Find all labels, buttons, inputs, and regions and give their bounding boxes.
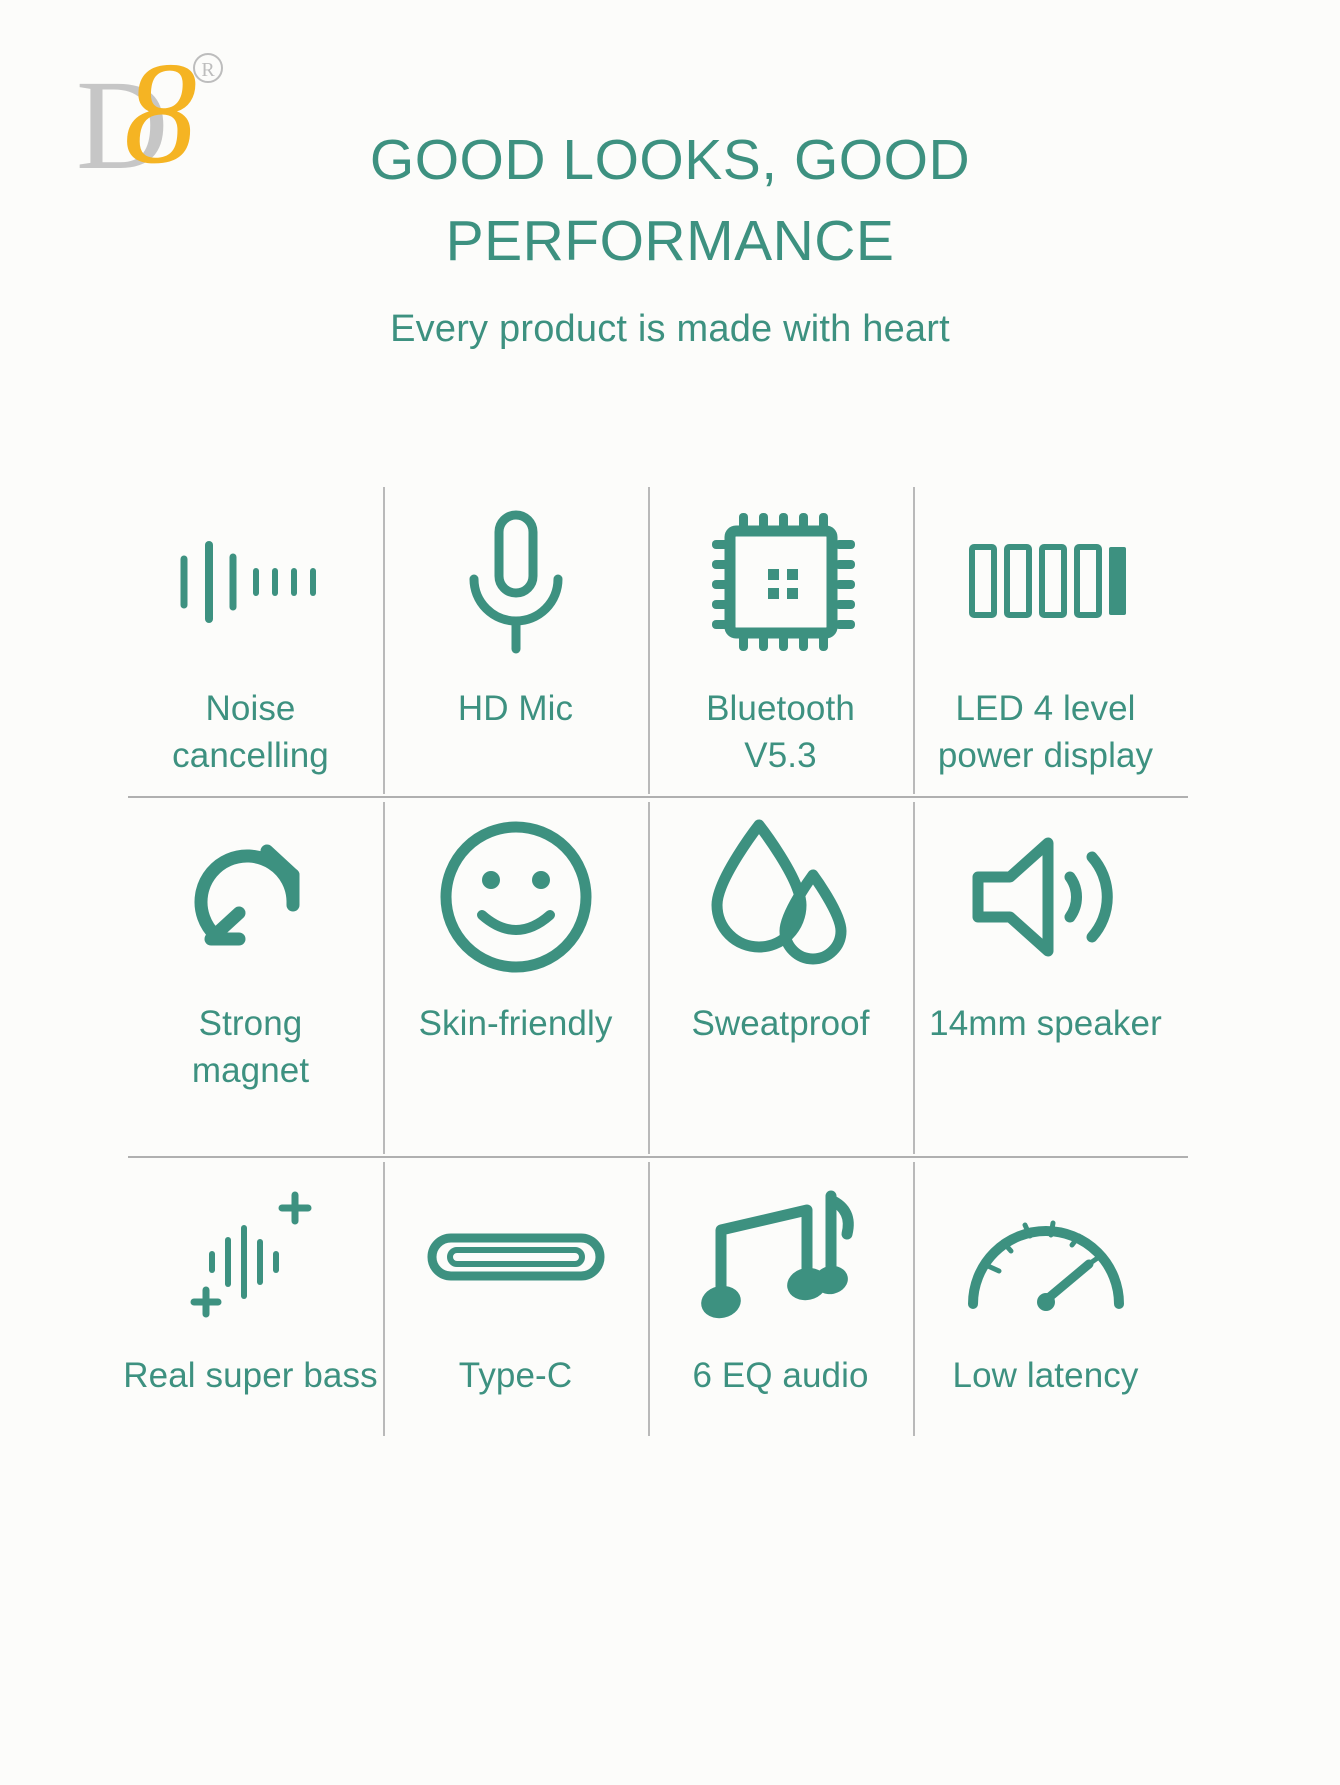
feature-label: Real super bass [119, 1352, 381, 1399]
feature-cell-bluetooth: Bluetooth V5.3 [648, 483, 913, 798]
feature-cell-hd-mic: HD Mic [383, 483, 648, 798]
feature-label: LED 4 level power display [934, 685, 1157, 780]
feature-label: Noise cancelling [168, 685, 333, 780]
feature-cell-led-power-display: LED 4 level power display [913, 483, 1178, 798]
feature-grid: Noise cancelling HD Mic [118, 483, 1178, 1440]
sound-wave-icon [176, 497, 326, 667]
feature-label: Bluetooth V5.3 [702, 685, 859, 780]
water-drops-icon [701, 812, 861, 982]
feature-label: 6 EQ audio [688, 1352, 872, 1399]
feature-label: 14mm speaker [925, 1000, 1166, 1047]
bass-boost-icon [186, 1172, 316, 1342]
feature-cell-low-latency: Low latency [913, 1158, 1178, 1440]
svg-text:R: R [201, 59, 215, 81]
feature-cell-sweatproof: Sweatproof [648, 798, 913, 1158]
usb-type-c-icon [426, 1172, 606, 1342]
chip-icon [706, 497, 856, 667]
magnet-icon [181, 812, 321, 982]
page-title: GOOD LOOKS, GOOD PERFORMANCE [250, 120, 1090, 282]
feature-label: HD Mic [454, 685, 577, 732]
feature-label: Strong magnet [188, 1000, 313, 1095]
feature-label: Low latency [949, 1352, 1143, 1399]
feature-label: Skin-friendly [415, 1000, 617, 1047]
feature-cell-skin-friendly: Skin-friendly [383, 798, 648, 1158]
feature-label: Sweatproof [687, 1000, 873, 1047]
feature-cell-eq-audio: 6 EQ audio [648, 1158, 913, 1440]
battery-bars-icon [966, 497, 1126, 667]
speaker-volume-icon [966, 812, 1126, 982]
feature-cell-speaker: 14mm speaker [913, 798, 1178, 1158]
registered-trademark-icon: R [194, 54, 222, 82]
feature-label: Type-C [455, 1352, 576, 1399]
header-block: GOOD LOOKS, GOOD PERFORMANCE Every produ… [250, 120, 1090, 351]
feature-cell-strong-magnet: Strong magnet [118, 798, 383, 1158]
product-feature-infographic: D 8 R GOOD LOOKS, GOOD PERFORMANCE Every… [0, 0, 1340, 1785]
page-subtitle: Every product is made with heart [250, 308, 1090, 351]
feature-cell-noise-cancelling: Noise cancelling [118, 483, 383, 798]
feature-cell-super-bass: Real super bass [118, 1158, 383, 1440]
microphone-icon [456, 497, 576, 667]
svg-text:8: 8 [124, 42, 197, 194]
smiley-face-icon [436, 812, 596, 982]
feature-cell-type-c: Type-C [383, 1158, 648, 1440]
speedometer-icon [961, 1172, 1131, 1342]
music-notes-icon [701, 1172, 861, 1342]
